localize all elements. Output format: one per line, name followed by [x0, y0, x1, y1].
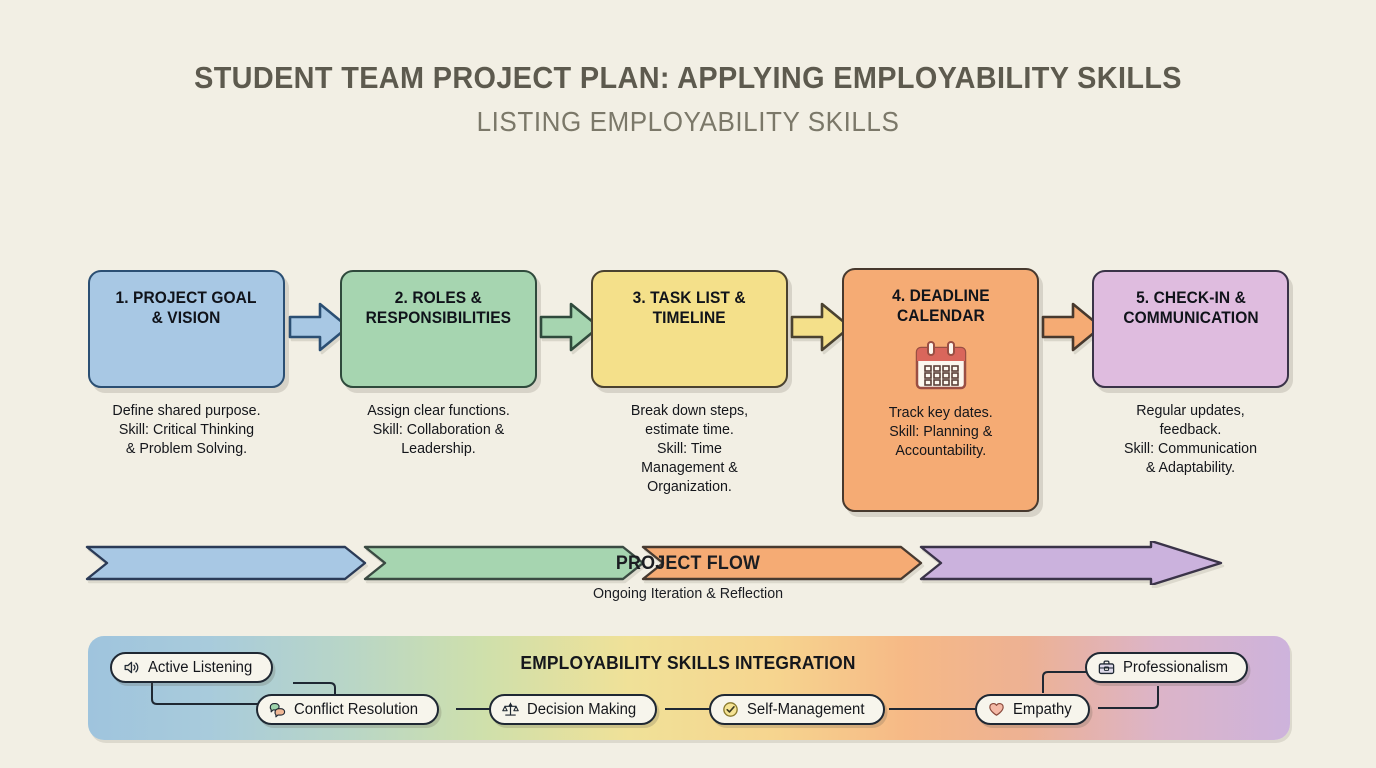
- speaker-icon: [122, 658, 141, 677]
- step-description-2: Assign clear functions.Skill: Collaborat…: [335, 402, 541, 459]
- process-step-1[interactable]: 1. PROJECT GOAL& VISIONDefine shared pur…: [88, 270, 285, 388]
- process-step-3[interactable]: 3. TASK LIST &TIMELINEBreak down steps,e…: [591, 270, 788, 388]
- process-step-5[interactable]: 5. CHECK-IN &COMMUNICATIONRegular update…: [1092, 270, 1289, 388]
- step-title-3: 3. TASK LIST &TIMELINE: [633, 288, 746, 328]
- step-box-4: 4. DEADLINECALENDARTrack key dates.Skill…: [842, 268, 1039, 512]
- skill-pill-professionalism[interactable]: Professionalism: [1085, 652, 1248, 683]
- skill-pill-label: Professionalism: [1123, 660, 1228, 676]
- step-box-5: 5. CHECK-IN &COMMUNICATIONRegular update…: [1092, 270, 1289, 388]
- project-flow-sublabel: Ongoing Iteration & Reflection: [34, 585, 1341, 602]
- step-description-4: Track key dates.Skill: Planning &Account…: [888, 404, 992, 461]
- briefcase-icon: [1097, 658, 1116, 677]
- step-box-3: 3. TASK LIST &TIMELINEBreak down steps,e…: [591, 270, 788, 388]
- heart-icon: [987, 700, 1006, 719]
- skill-pill-label: Self-Management: [747, 702, 864, 718]
- page-title: STUDENT TEAM PROJECT PLAN: APPLYING EMPL…: [48, 60, 1328, 96]
- scales-icon: [501, 700, 520, 719]
- step-description-5: Regular updates,feedback.Skill: Communic…: [1087, 402, 1293, 478]
- skill-pill-active-listening[interactable]: Active Listening: [110, 652, 273, 683]
- step-title-1: 1. PROJECT GOAL& VISION: [116, 288, 257, 328]
- skill-pill-label: Active Listening: [148, 660, 252, 676]
- check-circle-icon: [721, 700, 740, 719]
- process-step-2[interactable]: 2. ROLES &RESPONSIBILITIESAssign clear f…: [340, 270, 537, 388]
- step-box-1: 1. PROJECT GOAL& VISIONDefine shared pur…: [88, 270, 285, 388]
- project-flow-label: PROJECT FLOW: [41, 553, 1334, 575]
- page-subtitle: LISTING EMPLOYABILITY SKILLS: [48, 106, 1328, 138]
- skill-pill-self-management[interactable]: Self-Management: [709, 694, 885, 725]
- infographic-canvas: STUDENT TEAM PROJECT PLAN: APPLYING EMPL…: [0, 0, 1376, 768]
- skill-pill-empathy[interactable]: Empathy: [975, 694, 1090, 725]
- step-box-2: 2. ROLES &RESPONSIBILITIESAssign clear f…: [340, 270, 537, 388]
- skill-pill-decision-making[interactable]: Decision Making: [489, 694, 657, 725]
- process-step-4[interactable]: 4. DEADLINECALENDARTrack key dates.Skill…: [842, 268, 1039, 512]
- skill-pill-label: Conflict Resolution: [294, 702, 418, 718]
- skill-pill-label: Decision Making: [527, 702, 636, 718]
- skill-pill-label: Empathy: [1013, 702, 1072, 718]
- skill-pill-conflict-resolution[interactable]: Conflict Resolution: [256, 694, 439, 725]
- step-title-4: 4. DEADLINECALENDAR: [892, 286, 990, 326]
- step-title-5: 5. CHECK-IN &COMMUNICATION: [1123, 288, 1258, 328]
- step-title-2: 2. ROLES &RESPONSIBILITIES: [366, 288, 511, 328]
- step-description-3: Break down steps,estimate time.Skill: Ti…: [586, 402, 792, 496]
- calendar-icon: [913, 340, 969, 392]
- step-description-1: Define shared purpose.Skill: Critical Th…: [83, 402, 289, 459]
- speech-bubbles-icon: [268, 700, 287, 719]
